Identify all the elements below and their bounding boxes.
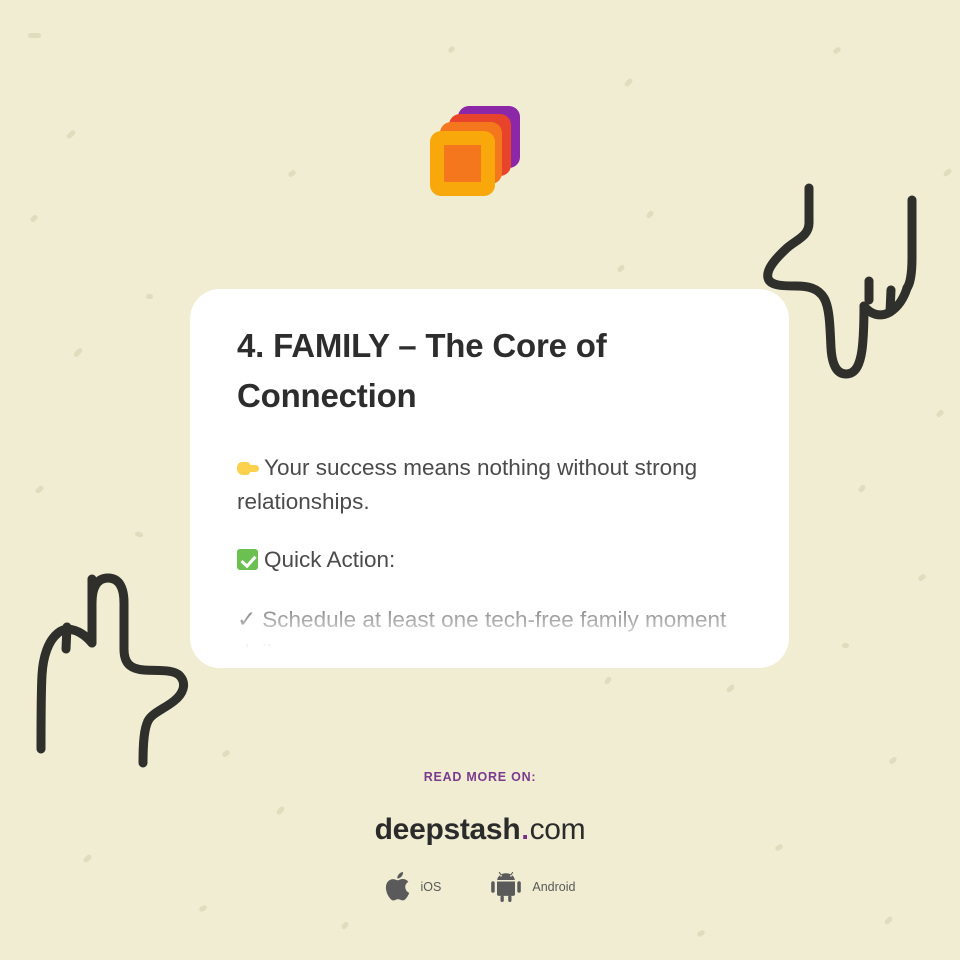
speck: [935, 409, 944, 418]
speck: [146, 294, 153, 299]
pointing-hand-illustration-left: [28, 563, 208, 778]
speck: [616, 264, 625, 273]
android-store-label: Android: [532, 880, 575, 894]
speck: [73, 347, 83, 358]
page-title: 4. FAMILY – The Core of Connection: [237, 321, 743, 421]
deepstash-wordmark[interactable]: deepstash.com: [0, 813, 960, 847]
speck: [696, 929, 705, 937]
wordmark-dot: .: [520, 815, 529, 845]
wordmark-name: deepstash: [375, 813, 521, 846]
speck: [66, 129, 77, 140]
speck: [857, 484, 866, 493]
idea-paragraph-2-text: Quick Action:: [264, 547, 395, 572]
idea-card-content: 4. FAMILY – The Core of Connection Your …: [190, 289, 789, 668]
read-more-label: READ MORE ON:: [0, 770, 960, 784]
speck: [447, 45, 455, 53]
speck: [832, 46, 841, 55]
speck: [29, 214, 38, 223]
speck: [287, 169, 296, 178]
footer: READ MORE ON: deepstash.com iOS: [0, 770, 960, 902]
speck: [604, 676, 613, 685]
speck: [888, 756, 897, 765]
android-store-badge[interactable]: Android: [489, 871, 575, 902]
idea-card[interactable]: 4. FAMILY – The Core of Connection Your …: [190, 289, 789, 668]
idea-paragraph-1-text: Your success means nothing without stron…: [237, 455, 697, 514]
store-badges: iOS An: [0, 871, 960, 902]
speck: [85, 627, 94, 637]
speck: [624, 78, 634, 88]
speck: [221, 749, 230, 758]
speck: [198, 904, 207, 912]
idea-paragraph-1: Your success means nothing without stron…: [237, 451, 743, 518]
wordmark-tld: com: [530, 813, 586, 846]
android-icon: [489, 871, 523, 902]
idea-paragraph-2: Quick Action:: [237, 543, 743, 577]
pointing-finger-icon: [237, 460, 259, 477]
check-mark-icon: ✓: [237, 602, 256, 636]
poster-canvas: 4. FAMILY – The Core of Connection Your …: [0, 0, 960, 960]
speck: [884, 916, 894, 926]
speck: [340, 921, 349, 930]
deepstash-logo: [430, 106, 520, 196]
speck: [917, 573, 926, 582]
speck: [942, 168, 952, 178]
idea-paragraph-3-text: Schedule at least one tech-free family m…: [237, 607, 726, 666]
speck: [34, 485, 44, 495]
apple-icon: [385, 871, 412, 902]
speck: [726, 684, 736, 694]
green-check-icon: [237, 549, 258, 570]
ios-store-badge[interactable]: iOS: [385, 871, 442, 902]
speck: [842, 643, 849, 648]
speck: [646, 210, 655, 219]
ios-store-label: iOS: [421, 880, 442, 894]
logo-layer-amber: [430, 131, 495, 196]
speck: [28, 33, 41, 38]
idea-paragraph-3: ✓Schedule at least one tech-free family …: [237, 602, 743, 668]
speck: [134, 531, 143, 538]
